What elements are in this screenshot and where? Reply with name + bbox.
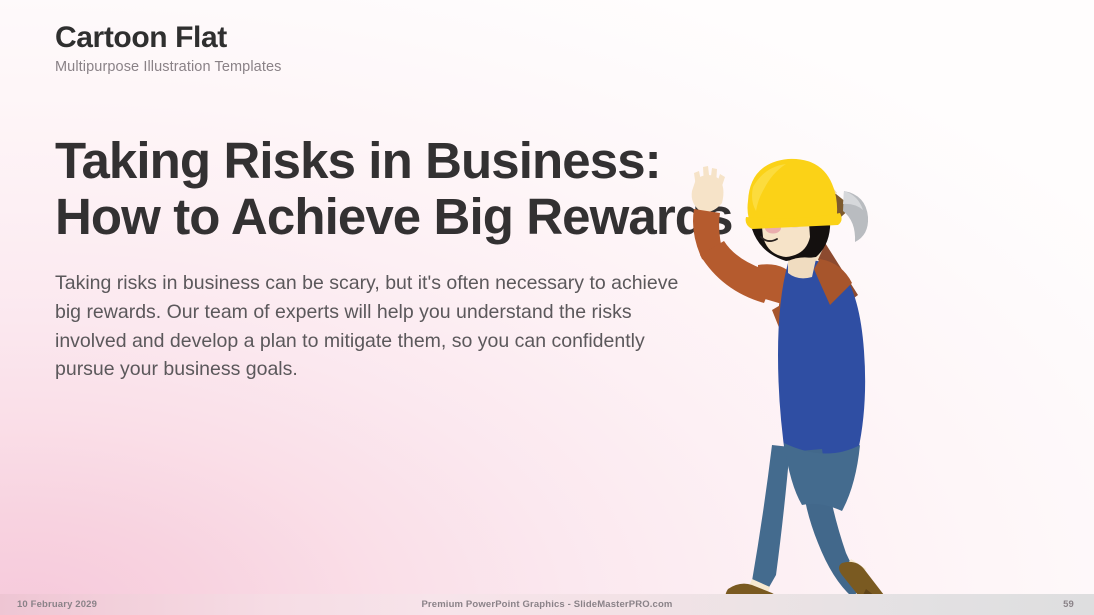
content-block: Taking Risks in Business: How to Achieve… <box>55 133 730 384</box>
illustration-construction-worker <box>660 155 990 600</box>
head <box>746 159 842 261</box>
slide: Cartoon Flat Multipurpose Illustration T… <box>0 0 1094 615</box>
footer-page-number: 59 <box>1063 599 1074 610</box>
brand-subtitle: Multipurpose Illustration Templates <box>55 59 281 75</box>
body-paragraph: Taking risks in business can be scary, b… <box>55 269 705 384</box>
page-title-line-1: Taking Risks in Business: <box>55 133 730 189</box>
page-title-line-2: How to Achieve Big Rewards <box>55 189 730 245</box>
page-title: Taking Risks in Business: How to Achieve… <box>55 133 730 245</box>
footer-credit: Premium PowerPoint Graphics - SlideMaste… <box>0 599 1094 610</box>
brand-title: Cartoon Flat <box>55 22 281 54</box>
footer-bar: 10 February 2029 Premium PowerPoint Grap… <box>0 594 1094 615</box>
hard-hat-icon <box>746 159 842 229</box>
brand-header: Cartoon Flat Multipurpose Illustration T… <box>55 22 281 75</box>
